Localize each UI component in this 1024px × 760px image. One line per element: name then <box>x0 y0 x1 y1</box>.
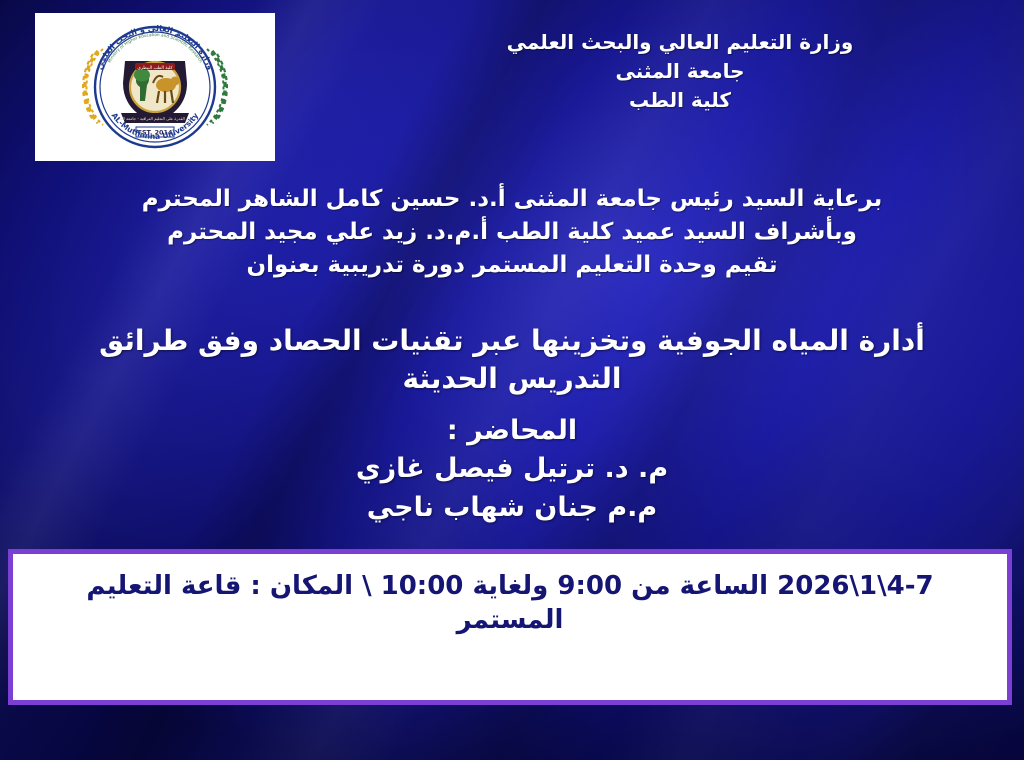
ministry-header: وزارة التعليم العالي والبحث العلمي جامعة… <box>400 28 960 115</box>
header-line-college: كلية الطب <box>400 86 960 115</box>
intro-line-organizer: تقيم وحدة التعليم المستمر دورة تدريبية ب… <box>0 249 1024 282</box>
intro-line-patronage: برعاية السيد رئيس جامعة المثنى أ.د. حسين… <box>0 183 1024 216</box>
header-line-ministry: وزارة التعليم العالي والبحث العلمي <box>400 28 960 57</box>
course-title: أدارة المياه الجوفية وتخزينها عبر تقنيات… <box>80 322 944 398</box>
announcement-slide: كلية الطب البيطري مختبر القدرة على التعل… <box>0 0 1024 760</box>
lecturer-name-2: م.م جنان شهاب ناجي <box>0 489 1024 527</box>
intro-line-supervision: وبأشراف السيد عميد كلية الطب أ.م.د. زيد … <box>0 216 1024 249</box>
university-logo-container: كلية الطب البيطري مختبر القدرة على التعل… <box>35 13 275 161</box>
event-details-box: 4-7\1\2026 الساعة من 9:00 ولغاية 10:00 \… <box>8 549 1012 705</box>
lecturers-section: المحاضر : م. د. ترتيل فيصل غازي م.م جنان… <box>0 412 1024 527</box>
lecturer-label: المحاضر : <box>0 412 1024 450</box>
sponsorship-intro: برعاية السيد رئيس جامعة المثنى أ.د. حسين… <box>0 183 1024 282</box>
header-line-university: جامعة المثنى <box>400 57 960 86</box>
lecturer-name-1: م. د. ترتيل فيصل غازي <box>0 450 1024 488</box>
event-details-text: 4-7\1\2026 الساعة من 9:00 ولغاية 10:00 \… <box>35 570 985 638</box>
logo-inner-bottom-text: مختبر القدرة على التعليم العراقية - جامع… <box>114 116 195 121</box>
al-muthanna-university-emblem-icon: كلية الطب البيطري مختبر القدرة على التعل… <box>35 13 275 161</box>
logo-inner-top-text: كلية الطب البيطري <box>137 65 173 71</box>
